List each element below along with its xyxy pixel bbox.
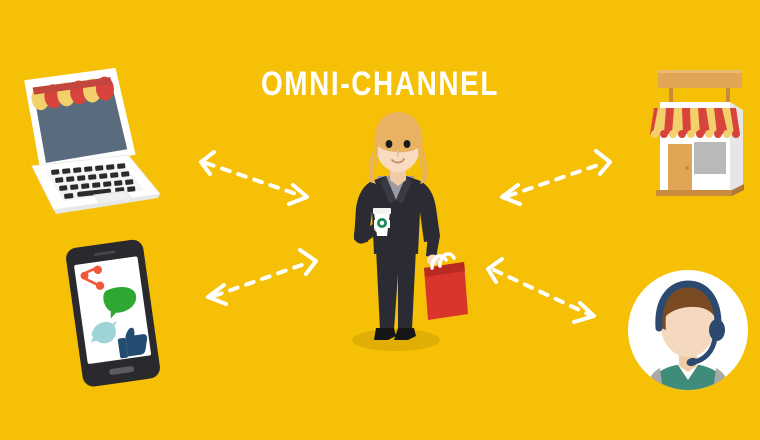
laptop-icon (2, 48, 172, 218)
node-agent[interactable] (618, 268, 758, 405)
node-store[interactable] (640, 48, 760, 213)
arrow-phone-shopper (188, 238, 338, 323)
woman-shopper-icon (328, 108, 468, 358)
node-phone[interactable] (52, 238, 177, 393)
node-laptop[interactable] (2, 48, 172, 223)
dashed-double-arrow-icon (180, 138, 330, 218)
storefront-icon (640, 48, 760, 208)
arrow-store-shopper (480, 138, 630, 223)
headset-agent-icon (618, 268, 758, 400)
smartphone-icon (52, 238, 177, 388)
omni-channel-diagram: OMNI-CHANNEL (0, 0, 760, 440)
arrow-agent-shopper (468, 248, 618, 343)
dashed-double-arrow-icon (480, 138, 630, 218)
arrow-laptop-shopper (180, 138, 330, 223)
dashed-double-arrow-icon (468, 248, 618, 338)
dashed-double-arrow-icon (188, 238, 338, 318)
node-shopper[interactable] (328, 108, 468, 363)
